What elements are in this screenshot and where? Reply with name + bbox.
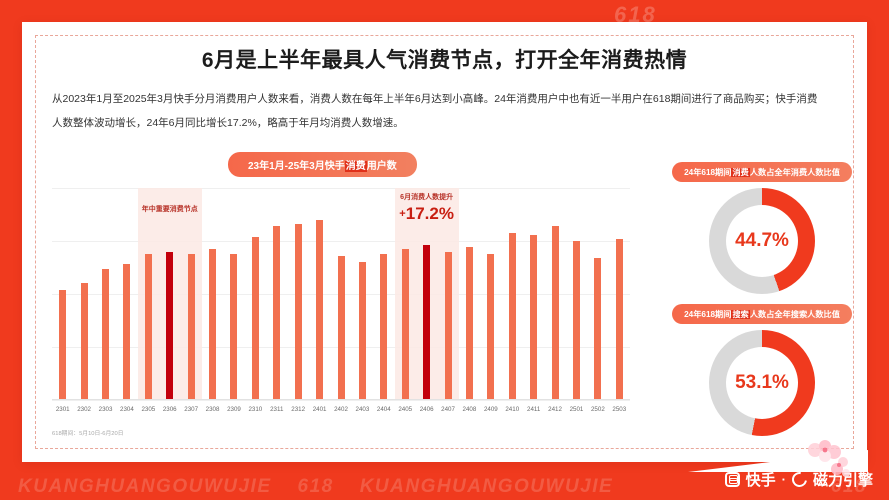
x-axis-label: 2402: [334, 406, 348, 413]
cili-engine-logo-icon: [789, 469, 810, 490]
x-axis-label: 2401: [313, 406, 327, 413]
x-axis-label: 2305: [141, 406, 155, 413]
x-axis-label: 2309: [227, 406, 241, 413]
bar: [59, 290, 66, 400]
bar: [252, 237, 259, 400]
chart-badge-suffix: 用户数: [367, 161, 397, 172]
bar: [166, 252, 173, 400]
bar-chart: 23年1月-25年3月快手消费用户数 年中重要消费节点6月消费人数提升+17.2…: [52, 152, 630, 442]
x-axis-label: 2407: [441, 406, 455, 413]
x-axis-label: 2307: [184, 406, 198, 413]
metric-search: 24年618期间搜索人数占全年搜索人数比值 53.1%: [642, 304, 882, 436]
x-axis-label: 2308: [206, 406, 220, 413]
metric-label-prefix: 24年618期间: [684, 310, 731, 319]
bar: [509, 233, 516, 400]
watermark-text-2: 618: [298, 476, 334, 498]
bar: [487, 254, 494, 400]
bar: [316, 220, 323, 400]
watermark-text-1: KUANGHUANGOUWUJIE: [18, 476, 272, 498]
x-axis-label: 2405: [398, 406, 412, 413]
gridline: [52, 400, 630, 401]
metric-label-suffix: 人数占全年消费人数比值: [750, 168, 840, 177]
page-title: 6月是上半年最具人气消费节点，打开全年消费热情: [22, 44, 867, 74]
x-axis-label: 2303: [99, 406, 113, 413]
x-axis-label: 2409: [484, 406, 498, 413]
x-axis-label: 2502: [591, 406, 605, 413]
watermark-text-3: KUANGHUANGOUWUJIE: [360, 476, 614, 498]
donut-chart-consumption: 44.7%: [709, 188, 815, 294]
metric-label-prefix: 24年618期间: [684, 168, 731, 177]
bar: [573, 241, 580, 400]
chart-footnote: 618期间：5月10日-6月20日: [52, 428, 124, 437]
x-axis-label: 2503: [612, 406, 626, 413]
bar: [81, 283, 88, 400]
bar-series: [52, 188, 630, 400]
content-card: 6月是上半年最具人气消费节点，打开全年消费热情 从2023年1月至2025年3月…: [22, 22, 867, 462]
metric-label-suffix: 人数占全年搜索人数比值: [750, 310, 840, 319]
x-axis-label: 2304: [120, 406, 134, 413]
chart-title-badge: 23年1月-25年3月快手消费用户数: [228, 152, 417, 177]
x-axis-label: 2406: [420, 406, 434, 413]
footer-branding: 快手 · 磁力引擎: [725, 469, 873, 490]
bar: [594, 258, 601, 400]
bar: [230, 254, 237, 400]
x-axis-labels: 2301230223032304230523062307230823092310…: [52, 406, 630, 422]
x-axis-label: 2311: [270, 406, 283, 413]
bar: [359, 262, 366, 400]
bar: [188, 254, 195, 400]
brand-separator: ·: [782, 472, 786, 487]
x-axis-label: 2310: [248, 406, 262, 413]
brand-engine: 磁力引擎: [813, 469, 873, 490]
x-axis-label: 2410: [505, 406, 519, 413]
metric-label-consumption: 24年618期间消费人数占全年消费人数比值: [672, 162, 852, 182]
bar: [530, 235, 537, 400]
x-axis-label: 2301: [56, 406, 70, 413]
x-axis-label: 2302: [77, 406, 91, 413]
bar: [338, 256, 345, 400]
bar: [273, 226, 280, 400]
donut-chart-search: 53.1%: [709, 330, 815, 436]
page-description: 从2023年1月至2025年3月快手分月消费用户人数来看，消费人数在每年上半年6…: [52, 88, 822, 135]
metric-label-search: 24年618期间搜索人数占全年搜索人数比值: [672, 304, 852, 324]
bar: [616, 239, 623, 400]
x-axis-label: 2501: [570, 406, 584, 413]
donut-value-search: 53.1%: [709, 330, 815, 436]
bar: [423, 245, 430, 400]
bar: [145, 254, 152, 400]
x-axis-label: 2403: [356, 406, 370, 413]
bar: [102, 269, 109, 400]
bar: [466, 247, 473, 400]
bar: [380, 254, 387, 400]
x-axis-label: 2312: [291, 406, 305, 413]
bar: [402, 249, 409, 400]
bar: [209, 249, 216, 400]
metric-label-highlight: 搜索: [731, 310, 749, 319]
x-axis-label: 2404: [377, 406, 391, 413]
bar: [445, 252, 452, 400]
x-axis-label: 2411: [527, 406, 540, 413]
metric-consumption: 24年618期间消费人数占全年消费人数比值 44.7%: [642, 162, 882, 294]
bar: [123, 264, 130, 400]
bar: [295, 224, 302, 400]
bar: [552, 226, 559, 400]
kuaishou-logo-icon: [725, 472, 740, 487]
plot-area: 年中重要消费节点6月消费人数提升+17.2%: [52, 188, 630, 400]
x-axis-label: 2306: [163, 406, 177, 413]
brand-kuaishou: 快手: [746, 469, 776, 490]
x-axis-label: 2408: [463, 406, 477, 413]
metric-label-highlight: 消费: [731, 168, 749, 177]
metrics-panel: 24年618期间消费人数占全年消费人数比值 44.7% 24年618期间搜索人数…: [642, 162, 882, 446]
donut-value-consumption: 44.7%: [709, 188, 815, 294]
chart-badge-highlight: 消费: [345, 161, 367, 172]
chart-badge-prefix: 23年1月-25年3月快手: [248, 161, 345, 172]
x-axis-line: [52, 399, 630, 400]
x-axis-label: 2412: [548, 406, 562, 413]
